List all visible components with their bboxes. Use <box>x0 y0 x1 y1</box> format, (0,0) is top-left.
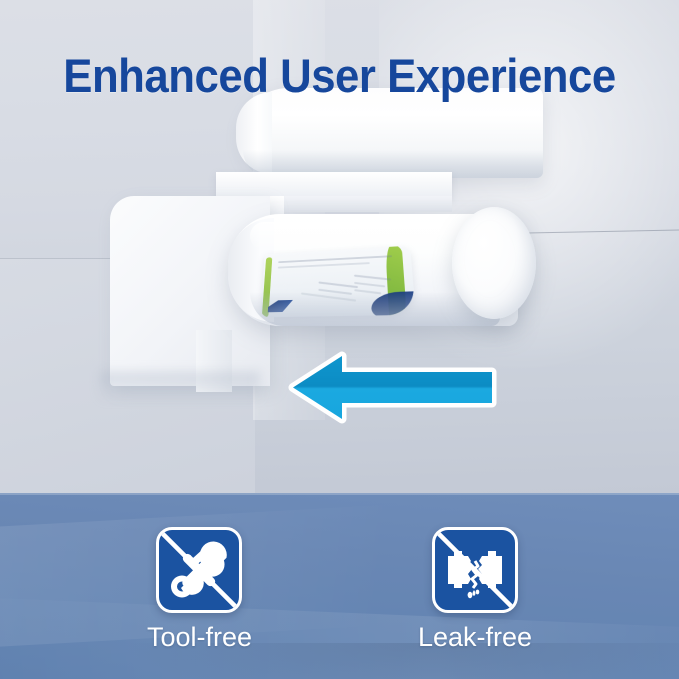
cracked-pipe-no-leak-icon <box>432 527 518 613</box>
feature-panel: Tool-free <box>0 493 679 679</box>
label-text-line <box>278 262 370 268</box>
label-text-line <box>318 282 358 288</box>
housing-bracket-arm <box>216 172 452 198</box>
label-text-line <box>354 282 385 287</box>
product-feature-poster: Enhanced User Experience <box>0 0 679 679</box>
housing-bracket-shadow <box>100 372 260 402</box>
feature-list: Tool-free <box>0 493 679 679</box>
page-title: Enhanced User Experience <box>24 48 655 103</box>
wrench-no-tools-icon <box>156 527 242 613</box>
feature-item-leak-free: Leak-free <box>418 527 532 653</box>
product-scene: Enhanced User Experience <box>0 0 679 493</box>
label-text-line <box>278 255 392 262</box>
housing-bracket-lip <box>284 196 452 212</box>
cartridge-end-cap <box>452 207 536 319</box>
label-text-line <box>354 275 391 281</box>
push-direction-arrow <box>286 350 498 424</box>
feature-label-tool-free: Tool-free <box>147 622 252 653</box>
feature-label-leak-free: Leak-free <box>418 622 532 653</box>
feature-item-tool-free: Tool-free <box>147 527 252 653</box>
